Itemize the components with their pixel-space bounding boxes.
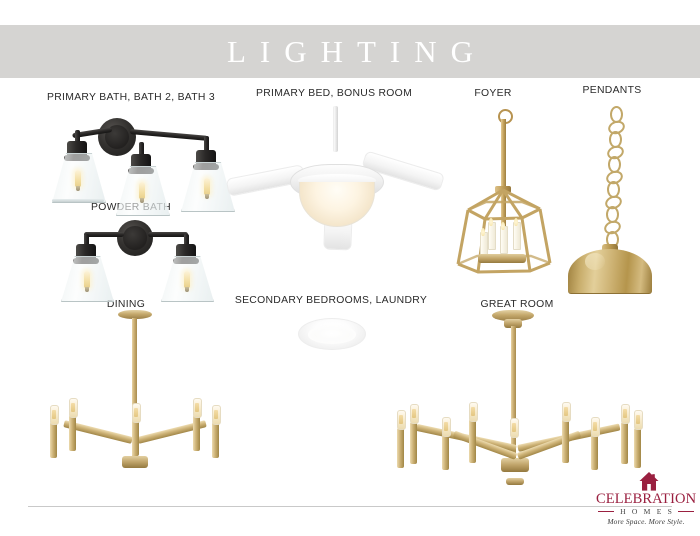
fixture-brass-pendant[interactable] [568, 104, 668, 288]
powder-arm-left [84, 232, 124, 237]
vanity-bulb-2 [139, 182, 145, 199]
fan-light-kit [299, 182, 375, 227]
dining-bulb-1 [50, 405, 59, 425]
great-upright-2 [410, 422, 417, 464]
powder-backplate [117, 220, 153, 256]
logo-rule-left [598, 511, 614, 512]
fixture-great-room-chandelier[interactable] [388, 310, 676, 492]
great-bulb-7 [591, 417, 600, 437]
dining-bulb-3 [132, 403, 141, 423]
great-bulb-6 [562, 402, 571, 422]
lantern-candle-1 [488, 222, 496, 226]
house-icon [639, 472, 659, 491]
great-bulb-9 [634, 410, 643, 430]
great-bulb-3 [442, 417, 451, 437]
great-upright-4 [469, 419, 476, 463]
great-upright-1 [397, 428, 404, 468]
logo-rule-right [678, 511, 694, 512]
lantern-candle-2 [500, 226, 508, 230]
great-bottom-finial [506, 478, 524, 485]
great-bulb-5 [510, 418, 519, 438]
lantern-candle-4 [480, 232, 488, 236]
dining-bulb-2 [69, 398, 78, 418]
dining-upright-1 [50, 422, 57, 458]
dining-upright-4 [193, 415, 200, 451]
vanity-shade-rim-1 [52, 199, 104, 202]
vanity-bulb-1 [75, 170, 81, 187]
page-title: LIGHTING [0, 25, 700, 78]
fixture-ceiling-fan[interactable] [232, 106, 438, 232]
label-secondary-bedrooms: SECONDARY BEDROOMS, LAUNDRY [235, 295, 427, 306]
dining-bulb-5 [212, 405, 221, 425]
dining-upright-2 [69, 415, 76, 451]
great-upright-9 [634, 428, 641, 468]
powder-bulb-2 [184, 271, 190, 288]
great-upright-7 [591, 434, 598, 470]
great-bulb-4 [469, 402, 478, 422]
label-primary-bath: PRIMARY BATH, BATH 2, BATH 3 [47, 92, 215, 103]
lantern-candle-3 [513, 222, 521, 226]
label-primary-bed: PRIMARY BED, BONUS ROOM [256, 88, 412, 99]
vanity-arm-right [130, 129, 208, 141]
brand-logo[interactable]: CELEBRATION H O M E S More Space. More S… [596, 472, 696, 530]
logo-homes-row: H O M E S [596, 507, 696, 516]
disc-light [298, 318, 366, 350]
fixture-dining-chandelier[interactable] [24, 310, 244, 490]
powder-arm-right [148, 232, 188, 237]
fixture-vanity-3-light[interactable] [28, 112, 234, 200]
fixture-vanity-2-light[interactable] [56, 214, 214, 290]
powder-bulb-1 [84, 271, 90, 288]
label-pendants: PENDANTS [583, 85, 642, 96]
pendant-dome-shade [568, 249, 652, 294]
great-upright-3 [442, 434, 449, 470]
fan-downrod [333, 106, 338, 152]
vanity-bulb-3 [204, 178, 210, 195]
great-center-hub [501, 458, 529, 472]
great-bulb-1 [397, 410, 406, 430]
dining-center-hub [122, 456, 148, 468]
dining-upright-5 [212, 422, 219, 458]
logo-sub-text: H O M E S [618, 507, 674, 516]
great-bulb-2 [410, 404, 419, 424]
fixture-foyer-lantern[interactable] [452, 106, 556, 286]
lantern-candle-base [478, 254, 526, 263]
label-great-room: GREAT ROOM [480, 299, 553, 310]
lighting-selection-board: LIGHTING PRIMARY BATH, BATH 2, BATH 3 PR… [0, 0, 700, 536]
great-bulb-8 [621, 404, 630, 424]
great-upright-8 [621, 422, 628, 464]
logo-brand-text: CELEBRATION [596, 492, 696, 507]
fixture-flush-mount-disc[interactable] [298, 318, 364, 350]
bottom-divider [28, 506, 672, 507]
dining-upright-3 [132, 420, 139, 456]
dining-bulb-4 [193, 398, 202, 418]
vanity-backplate [98, 118, 136, 156]
logo-tagline: More Space. More Style. [596, 517, 696, 526]
great-downrod [511, 326, 516, 460]
label-foyer: FOYER [474, 88, 511, 99]
great-upright-6 [562, 419, 569, 463]
